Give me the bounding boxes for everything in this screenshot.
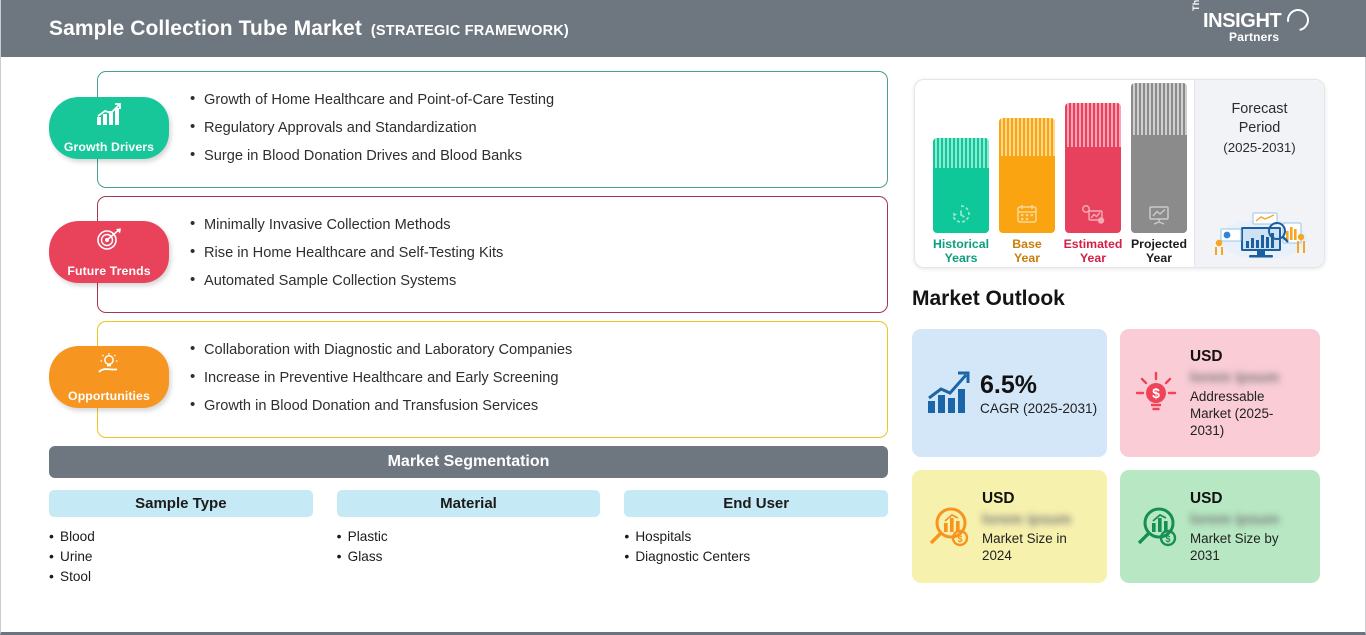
opportunities-bullet-list: Collaboration with Diagnostic and Labora… [98,322,887,420]
page-header: Sample Collection Tube Market (STRATEGIC… [1,0,1366,57]
list-item: Hospitals [624,527,888,547]
forecast-period-panel: Forecast Period (2025-2031) [1194,80,1324,268]
timeline-bars: 2021-2023 [915,80,1197,268]
market-segmentation-columns: Sample Type Blood Urine Stool Material P… [49,490,888,587]
segmentation-column-header: End User [624,490,888,517]
list-item: Minimally Invasive Collection Methods [190,211,887,239]
badge-growth-drivers: Growth Drivers [49,97,169,159]
magnifier-chart-dollar-icon: $ [922,501,974,553]
logo-arc-icon [1283,5,1314,36]
currency-label: USD [982,490,1093,508]
hand-lightbulb-icon [95,352,123,376]
logo-partners-text: Partners [1229,30,1279,44]
future-trends-bullet-list: Minimally Invasive Collection Methods Ri… [98,197,887,295]
bar-chart-arrow-icon [95,103,123,127]
card-addressable-market: $ USD lorem ipsum Addressabl [1120,329,1320,457]
badge-future-trends: Future Trends [49,221,169,283]
badge-label: Growth Drivers [64,140,154,154]
segmentation-item-list: Hospitals Diagnostic Centers [624,527,888,567]
cagr-value: 6.5% [980,371,1099,399]
bar-category-label: ProjectedYear [1122,237,1196,265]
market-outlook-row-top: 6.5% CAGR (2025-2031) $ [912,329,1326,457]
list-item: Collaboration with Diagnostic and Labora… [190,336,887,364]
segmentation-column-header: Material [337,490,601,517]
market-segmentation-title: Market Segmentation [49,446,888,478]
target-dart-icon [95,227,123,251]
svg-text:$: $ [1165,534,1170,544]
list-item: Plastic [337,527,601,547]
list-item: Diagnostic Centers [624,547,888,567]
calendar-icon [1014,203,1040,225]
bar-category-label: EstimatedYear [1056,237,1130,265]
header-title-group: Sample Collection Tube Market (STRATEGIC… [49,17,569,41]
market-value-blurred: lorem ipsum [1190,369,1279,386]
card-label: Market Size by 2031 [1190,530,1306,564]
card-label: Market Size in 2024 [982,530,1093,564]
bar-historical-years: 2021-2023 [933,138,989,233]
market-outlook-row-bottom: $ USD lorem ipsum Market Size in 2024 [912,470,1326,583]
analytics-dashboard-illustration [1205,199,1315,261]
forecast-period-range: (2025-2031) [1223,140,1295,155]
list-item: Glass [337,547,601,567]
left-column: Growth of Home Healthcare and Point-of-C… [1,57,906,635]
page-title: Sample Collection Tube Market [49,17,362,41]
infographic-page: Sample Collection Tube Market (STRATEGIC… [0,0,1366,635]
logo-the-text: The [1191,0,1201,11]
segmentation-item-list: Blood Urine Stool [49,527,313,587]
list-item: Urine [49,547,313,567]
card-market-size-2031: $ USD lorem ipsum Market Size by 2031 [1120,470,1320,583]
badge-label: Opportunities [68,389,150,403]
strategy-panel-future-trends: Minimally Invasive Collection Methods Ri… [97,196,888,313]
insight-partners-logo: The INSIGHT Partners [1191,9,1311,49]
strategy-panel-opportunities: Collaboration with Diagnostic and Labora… [97,321,888,438]
list-item: Stool [49,567,313,587]
card-label: Addressable Market (2025-2031) [1190,388,1306,439]
market-outlook-cards: 6.5% CAGR (2025-2031) $ [912,329,1326,596]
list-item: Blood [49,527,313,547]
market-value-blurred: lorem ipsum [982,511,1071,528]
svg-text:$: $ [957,534,962,544]
clock-history-icon [948,203,974,225]
bar-category-label: BaseYear [990,237,1064,265]
card-market-size-2024: $ USD lorem ipsum Market Size in 2024 [912,470,1107,583]
list-item: Regulatory Approvals and Standardization [190,114,887,142]
badge-opportunities: Opportunities [49,346,169,408]
segmentation-column-end-user: End User Hospitals Diagnostic Centers [624,490,888,587]
page-subtitle: (STRATEGIC FRAMEWORK) [371,23,569,39]
list-item: Growth of Home Healthcare and Point-of-C… [190,86,887,114]
list-item: Surge in Blood Donation Drives and Blood… [190,142,887,170]
list-item: Automated Sample Collection Systems [190,267,887,295]
badge-label: Future Trends [67,264,150,278]
segmentation-column-header: Sample Type [49,490,313,517]
list-item: Increase in Preventive Healthcare and Ea… [190,364,887,392]
bar-chart-growth-icon [922,367,974,419]
segmentation-column-sample-type: Sample Type Blood Urine Stool [49,490,313,587]
right-column: 2021-2023 [906,57,1366,635]
market-value-blurred: lorem ipsum [1190,511,1279,528]
card-cagr: 6.5% CAGR (2025-2031) [912,329,1107,457]
bar-category-label: HistoricalYears [924,237,998,265]
list-item: Growth in Blood Donation and Transfusion… [190,392,887,420]
segmentation-column-material: Material Plastic Glass [337,490,601,587]
forecast-timeline-chart: 2021-2023 [914,79,1325,268]
forecast-gear-chart-icon [1080,203,1106,225]
strategy-panel-growth-drivers: Growth of Home Healthcare and Point-of-C… [97,71,888,188]
market-outlook-title: Market Outlook [912,287,1065,311]
lightbulb-dollar-icon: $ [1130,367,1182,419]
cagr-label: CAGR (2025-2031) [980,401,1099,416]
forecast-period-heading: Forecast Period (2025-2031) [1195,100,1324,158]
currency-label: USD [1190,348,1306,366]
presentation-chart-icon [1146,203,1172,225]
bar-base-year: 2024 [999,118,1055,233]
segmentation-item-list: Plastic Glass [337,527,601,567]
currency-label: USD [1190,490,1306,508]
bar-projected-year: 2031 [1131,83,1187,233]
list-item: Rise in Home Healthcare and Self-Testing… [190,239,887,267]
growth-drivers-bullet-list: Growth of Home Healthcare and Point-of-C… [98,72,887,170]
svg-text:$: $ [1152,385,1160,401]
magnifier-chart-dollar-icon: $ [1130,501,1182,553]
bar-estimated-year: 2025 [1065,103,1121,233]
